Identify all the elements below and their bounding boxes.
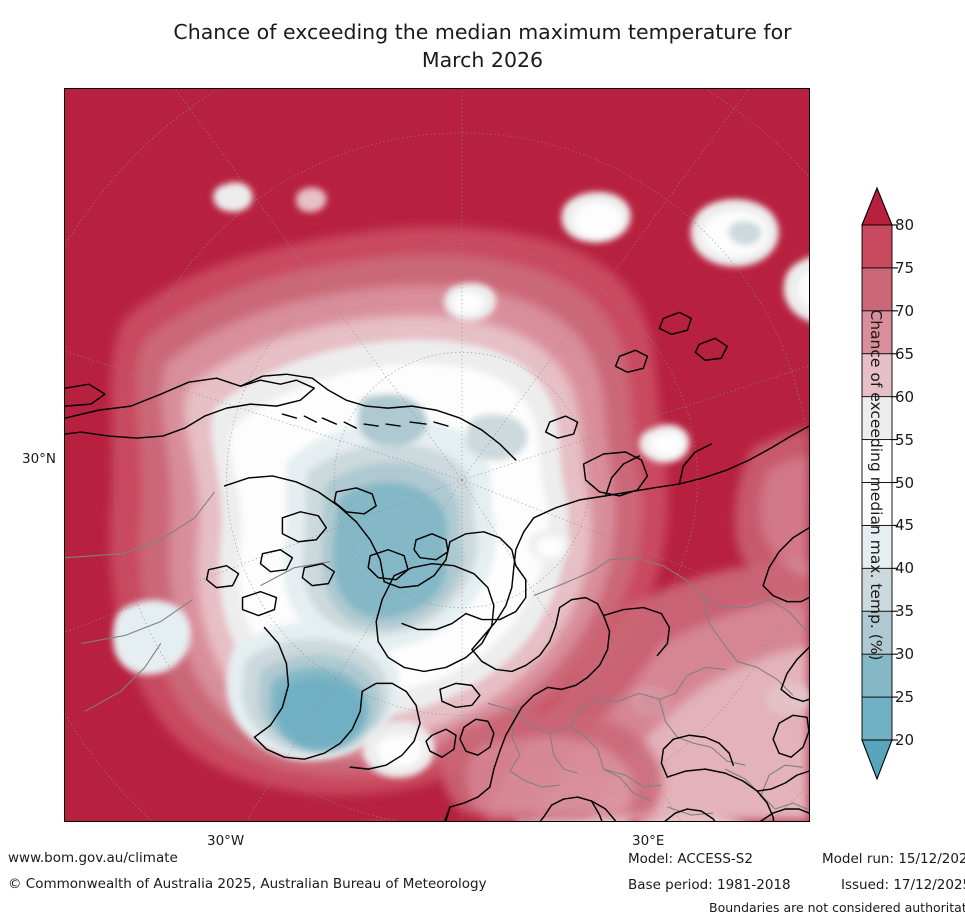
latitude-label-30n: 30°N [22, 451, 56, 467]
colorbar-tick-label: 75 [895, 259, 914, 277]
colorbar-tick-label: 45 [895, 516, 914, 534]
map-panel[interactable] [64, 88, 810, 822]
page-title: Chance of exceeding the median maximum t… [0, 18, 965, 74]
colorbar-band [862, 525, 892, 568]
colorbar-band [862, 397, 892, 440]
colorbar-tick-label: 65 [895, 345, 914, 363]
colorbar-band [862, 440, 892, 483]
colorbar-tick-label: 30 [895, 645, 914, 663]
colorbar-band [862, 654, 892, 697]
colorbar-band [862, 611, 892, 654]
colorbar-tick-label: 60 [895, 388, 914, 406]
copyright-notice: © Commonwealth of Australia 2025, Austra… [8, 876, 487, 892]
colorbar-band [862, 225, 892, 268]
colorbar-tick-label: 20 [895, 731, 914, 749]
probability-heatmap [65, 89, 809, 821]
colorbar-band [862, 268, 892, 311]
model-run-label: Model run: 15/12/2025 [822, 851, 965, 867]
colorbar-band [862, 354, 892, 397]
base-period-label: Base period: 1981-2018 [628, 877, 791, 893]
colorbar-band [862, 311, 892, 354]
colorbar-band [862, 697, 892, 740]
colorbar-tick-label: 50 [895, 474, 914, 492]
climate-outlook-page: Chance of exceeding the median maximum t… [0, 0, 965, 919]
colorbar-band [862, 483, 892, 526]
longitude-label-30w: 30°W [207, 833, 244, 849]
colorbar-tick-label: 70 [895, 302, 914, 320]
longitude-label-30e: 30°E [632, 833, 664, 849]
colorbar-extend-min [862, 740, 892, 779]
bom-url[interactable]: www.bom.gov.au/climate [8, 850, 178, 866]
colorbar-tick-label: 80 [895, 216, 914, 234]
model-label: Model: ACCESS-S2 [628, 851, 753, 867]
boundaries-disclaimer: Boundaries are not considered authoritat… [709, 900, 965, 915]
colorbar-tick-label: 35 [895, 602, 914, 620]
colorbar-tick-label: 25 [895, 688, 914, 706]
colorbar-band [862, 568, 892, 611]
colorbar-tick-label: 40 [895, 559, 914, 577]
issued-label: Issued: 17/12/2025 [841, 877, 965, 893]
colorbar-tick-label: 55 [895, 431, 914, 449]
colorbar-extend-max [862, 188, 892, 225]
colorbar: 80757065605550454035302520 [853, 185, 905, 785]
